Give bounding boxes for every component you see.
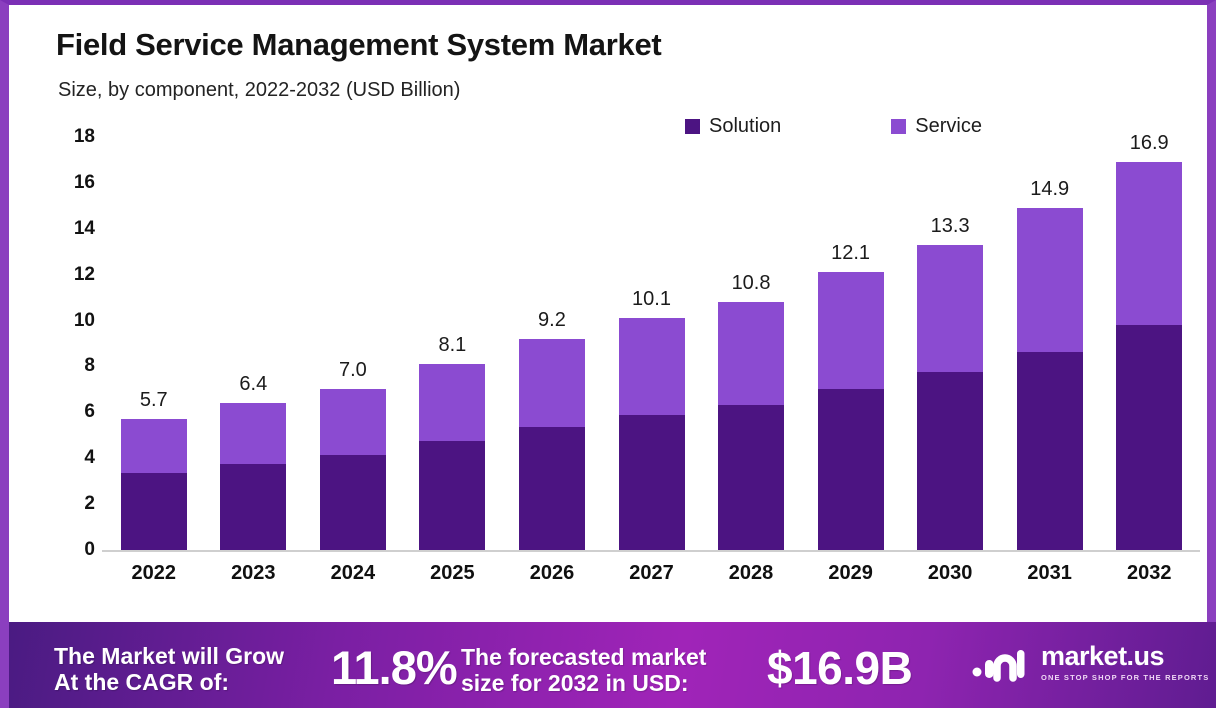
- stacked-bar[interactable]: 7.0: [320, 389, 386, 550]
- stacked-bar[interactable]: 10.1: [619, 318, 685, 550]
- cagr-value: 11.8%: [331, 642, 457, 695]
- x-axis-tick-label: 2023: [231, 562, 276, 585]
- bar-segment-solution[interactable]: [1017, 352, 1083, 550]
- footer-banner: The Market will Grow At the CAGR of: 11.…: [9, 622, 1216, 708]
- bar-group[interactable]: 6.42023: [220, 403, 286, 550]
- y-axis-tick-label: 4: [61, 447, 95, 469]
- bar-segment-service[interactable]: [419, 364, 485, 441]
- chart-plot-area: 024681012141618 5.720226.420237.020248.1…: [9, 5, 1207, 605]
- bar-segment-service[interactable]: [1017, 208, 1083, 351]
- bar-total-label: 10.1: [632, 288, 671, 311]
- x-axis-tick-label: 2029: [828, 562, 873, 585]
- bar-group[interactable]: 12.12029: [818, 272, 884, 550]
- stacked-bar[interactable]: 13.3: [917, 245, 983, 550]
- logo-mark-icon: [971, 642, 1031, 682]
- bar-segment-service[interactable]: [220, 403, 286, 464]
- bar-total-label: 14.9: [1030, 178, 1069, 201]
- bar-group[interactable]: 16.92032: [1116, 162, 1182, 550]
- bar-group[interactable]: 10.82028: [718, 302, 784, 550]
- bar-total-label: 12.1: [831, 242, 870, 265]
- y-axis-tick-label: 12: [61, 264, 95, 286]
- bar-segment-solution[interactable]: [320, 455, 386, 550]
- bar-total-label: 13.3: [931, 215, 970, 238]
- bar-group[interactable]: 10.12027: [619, 318, 685, 550]
- x-axis-tick-label: 2032: [1127, 562, 1172, 585]
- stacked-bar[interactable]: 12.1: [818, 272, 884, 550]
- forecast-label: The forecasted market size for 2032 in U…: [461, 645, 706, 697]
- bar-series-container: 5.720226.420237.020248.120259.2202610.12…: [104, 5, 1199, 605]
- bar-total-label: 6.4: [239, 373, 267, 396]
- bar-segment-solution[interactable]: [818, 389, 884, 550]
- x-axis-tick-label: 2024: [331, 562, 376, 585]
- bar-group[interactable]: 14.92031: [1017, 208, 1083, 550]
- bar-segment-service[interactable]: [718, 302, 784, 405]
- x-axis-tick-label: 2025: [430, 562, 475, 585]
- cagr-label: The Market will Grow At the CAGR of:: [54, 644, 284, 696]
- y-axis-tick-label: 14: [61, 218, 95, 240]
- bar-segment-solution[interactable]: [121, 473, 187, 550]
- bar-total-label: 8.1: [439, 334, 467, 357]
- bar-segment-solution[interactable]: [519, 427, 585, 550]
- x-axis-tick-label: 2030: [928, 562, 973, 585]
- bar-group[interactable]: 7.02024: [320, 389, 386, 550]
- bar-group[interactable]: 5.72022: [121, 419, 187, 550]
- bar-segment-service[interactable]: [917, 245, 983, 372]
- y-axis-tick-label: 2: [61, 493, 95, 515]
- bar-segment-solution[interactable]: [619, 415, 685, 550]
- logo-name: market.us: [1041, 643, 1209, 670]
- bar-segment-service[interactable]: [519, 339, 585, 427]
- bar-group[interactable]: 8.12025: [419, 364, 485, 550]
- bar-segment-service[interactable]: [121, 419, 187, 473]
- stacked-bar[interactable]: 5.7: [121, 419, 187, 550]
- y-axis-tick-label: 6: [61, 401, 95, 423]
- stacked-bar[interactable]: 14.9: [1017, 208, 1083, 550]
- bar-total-label: 9.2: [538, 309, 566, 332]
- bar-segment-service[interactable]: [619, 318, 685, 414]
- bar-total-label: 7.0: [339, 359, 367, 382]
- stacked-bar[interactable]: 10.8: [718, 302, 784, 550]
- bar-group[interactable]: 13.32030: [917, 245, 983, 550]
- stacked-bar[interactable]: 16.9: [1116, 162, 1182, 550]
- bar-segment-service[interactable]: [818, 272, 884, 389]
- x-axis-tick-label: 2022: [132, 562, 177, 585]
- market-us-logo[interactable]: market.us ONE STOP SHOP FOR THE REPORTS: [971, 642, 1209, 682]
- stacked-bar[interactable]: 6.4: [220, 403, 286, 550]
- y-axis-tick-label: 8: [61, 355, 95, 377]
- bar-segment-solution[interactable]: [419, 441, 485, 550]
- y-axis: 024681012141618: [61, 5, 95, 605]
- y-axis-tick-label: 18: [61, 126, 95, 148]
- x-axis-tick-label: 2028: [729, 562, 774, 585]
- x-axis-tick-label: 2026: [530, 562, 575, 585]
- bar-total-label: 16.9: [1130, 132, 1169, 155]
- x-axis-tick-label: 2027: [629, 562, 674, 585]
- y-axis-tick-label: 0: [61, 539, 95, 561]
- bar-group[interactable]: 9.22026: [519, 339, 585, 550]
- y-axis-tick-label: 16: [61, 172, 95, 194]
- bar-total-label: 5.7: [140, 389, 168, 412]
- x-axis-tick-label: 2031: [1027, 562, 1072, 585]
- logo-tagline: ONE STOP SHOP FOR THE REPORTS: [1041, 673, 1209, 682]
- infographic-page: Field Service Management System Market S…: [0, 0, 1216, 708]
- y-axis-tick-label: 10: [61, 310, 95, 332]
- bar-segment-solution[interactable]: [1116, 325, 1182, 550]
- bar-total-label: 10.8: [732, 272, 771, 295]
- stacked-bar[interactable]: 9.2: [519, 339, 585, 550]
- bar-segment-solution[interactable]: [220, 464, 286, 550]
- bar-segment-service[interactable]: [1116, 162, 1182, 325]
- bar-segment-solution[interactable]: [917, 372, 983, 550]
- bar-segment-service[interactable]: [320, 389, 386, 454]
- bar-segment-solution[interactable]: [718, 405, 784, 550]
- forecast-value: $16.9B: [767, 643, 912, 695]
- stacked-bar[interactable]: 8.1: [419, 364, 485, 550]
